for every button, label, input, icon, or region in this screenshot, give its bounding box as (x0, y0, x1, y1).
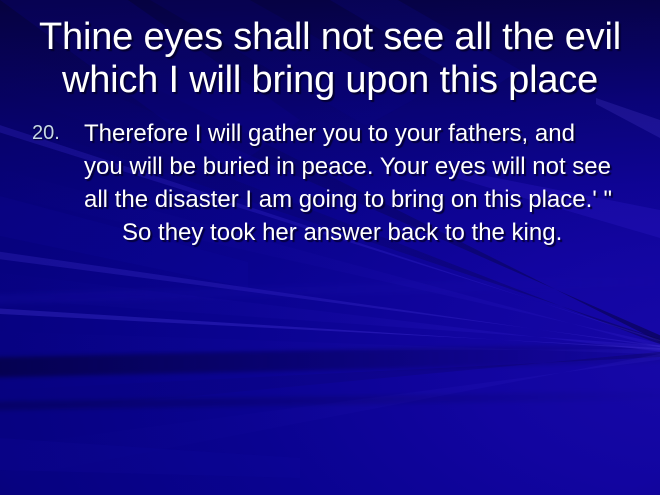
presentation-slide: Thine eyes shall not see all the evil wh… (0, 0, 660, 495)
slide-content: Thine eyes shall not see all the evil wh… (0, 0, 660, 495)
closing-line: So they took her answer back to the king… (84, 216, 614, 249)
verse-text-block: Therefore I will gather you to your fath… (84, 117, 614, 249)
verse-number: 20. (32, 117, 84, 150)
slide-body: 20. Therefore I will gather you to your … (32, 117, 634, 249)
slide-title: Thine eyes shall not see all the evil wh… (26, 16, 634, 102)
verse-paragraph: 20. Therefore I will gather you to your … (32, 117, 634, 249)
title-line-2: which I will bring upon this place (26, 59, 634, 102)
verse-text: Therefore I will gather you to your fath… (84, 120, 612, 213)
title-line-1: Thine eyes shall not see all the evil (26, 16, 634, 59)
